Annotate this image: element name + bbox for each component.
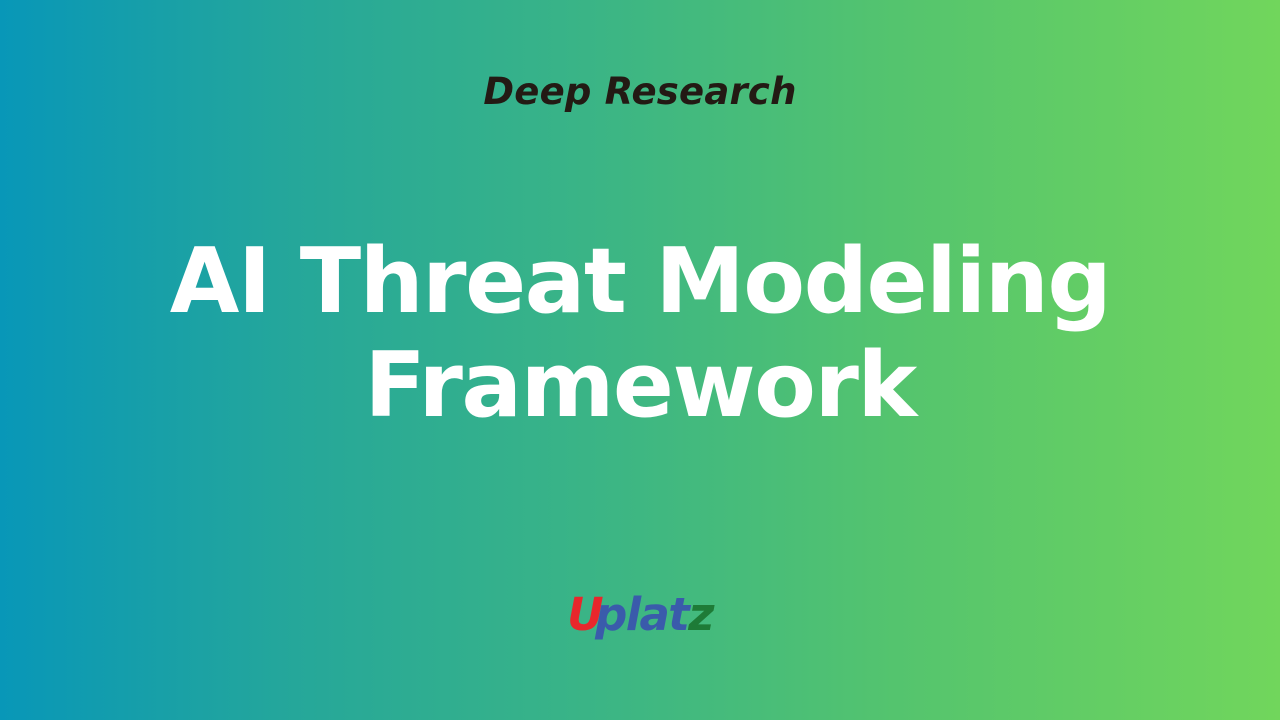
- uplatz-logo: Uplatz: [0, 592, 1280, 637]
- slide-title-line-2: Framework: [0, 334, 1280, 438]
- uplatz-logo-letter-z: z: [688, 588, 713, 641]
- slide-title-line-1: AI Threat Modeling: [0, 230, 1280, 334]
- uplatz-logo-letters-plat: plat: [595, 588, 688, 641]
- slide-kicker: Deep Research: [0, 72, 1280, 113]
- slide-title: AI Threat Modeling Framework: [0, 230, 1280, 439]
- title-slide: Deep Research AI Threat Modeling Framewo…: [0, 0, 1280, 720]
